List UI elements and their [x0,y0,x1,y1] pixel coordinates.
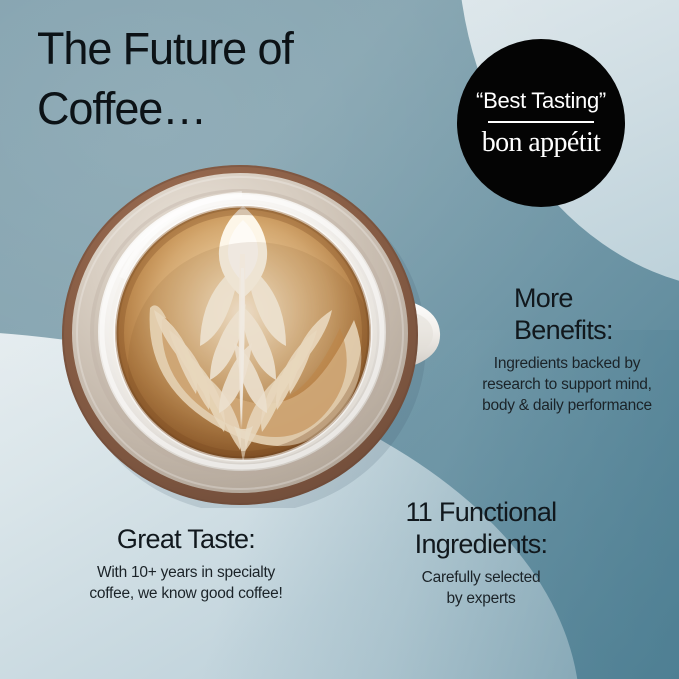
feature-heading: Great Taste: [55,524,317,556]
feature-functional-ingredients: 11 Functional Ingredients: Carefully sel… [372,497,590,609]
badge-publication: bon appétit [482,127,601,159]
feature-body: Ingredients backed by research to suppor… [458,353,676,417]
promotional-image: The Future of Coffee… “Best Tasting” bon… [0,0,679,679]
feature-more-benefits: More Benefits: Ingredients backed by res… [458,283,676,417]
award-badge: “Best Tasting” bon appétit [457,39,625,207]
feature-heading: More Benefits: [458,283,676,347]
feature-body: Carefully selected by experts [372,567,590,610]
badge-divider [488,121,594,123]
coffee-cup-image [58,158,468,508]
feature-great-taste: Great Taste: With 10+ years in specialty… [55,524,317,605]
page-title: The Future of Coffee… [37,19,437,139]
feature-body: With 10+ years in specialty coffee, we k… [55,562,317,605]
badge-quote: “Best Tasting” [476,88,606,114]
feature-heading: 11 Functional Ingredients: [372,497,590,561]
